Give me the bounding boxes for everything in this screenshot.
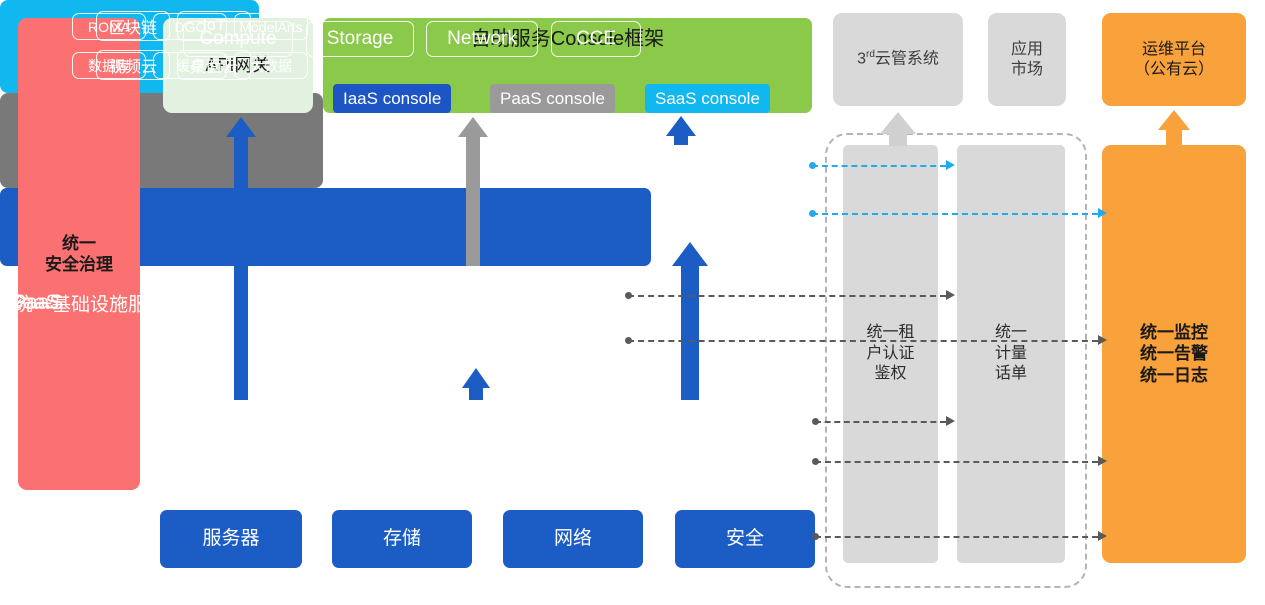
security-governance-line1: 统一 [45,233,113,254]
security-governance-line2: 安全治理 [45,254,113,275]
hardware-storage-box[interactable]: 存储 [332,510,472,568]
ops-platform-label: 运维平台 （公有云） [1134,40,1214,80]
app-market-line2: 市场 [1011,60,1043,80]
paas-service-roma[interactable]: ROMA [72,13,146,40]
tenant-auth-line3: 鉴权 [866,364,914,385]
connector-arrowhead-paas-auth [946,290,955,300]
third-party-cloud-mgmt-box[interactable]: 3rd云管系统 [833,13,963,106]
unified-tenant-auth-label: 统一租 户认证 鉴权 [866,323,914,385]
unified-metering-label: 统一 计量 话单 [995,323,1027,385]
third-party-cloud-mgmt-label: 3rd云管系统 [857,49,939,69]
iaas-console-button[interactable]: IaaS console [333,84,451,113]
metering-line2: 计量 [995,344,1027,365]
connector-saas-to-ops [812,213,1098,215]
ops-monitoring-line1: 统一监控 [1140,322,1208,343]
arrow-saas-to-console [666,116,696,145]
infrastructure-layer-label: 统一基础设施服务 [14,289,166,316]
arrow-infra-to-paas [462,368,490,400]
connector-paas-to-ops [628,340,1098,342]
app-market-box[interactable]: 应用 市场 [988,13,1066,106]
connector-arrowhead-saas-auth [946,160,955,170]
metering-line3: 话单 [995,364,1027,385]
ops-monitoring-column[interactable]: 统一监控 统一告警 统一日志 [1102,145,1246,563]
connector-arrowhead-infra-ops [1098,456,1107,466]
app-market-label: 应用 市场 [1011,40,1043,80]
ops-platform-line1: 运维平台 [1134,40,1214,60]
infra-service-network[interactable]: Network [426,21,538,57]
security-governance-label: 统一 安全治理 [45,233,113,276]
connector-infra-to-ops [815,461,1098,463]
ops-platform-line2: （公有云） [1134,60,1214,80]
connector-arrowhead-hardware-ops [1098,531,1107,541]
saas-console-button[interactable]: SaaS console [645,84,770,113]
unified-tenant-auth-column[interactable]: 统一租 户认证 鉴权 [843,145,938,563]
unified-metering-column[interactable]: 统一 计量 话单 [957,145,1065,563]
tenant-auth-line2: 户认证 [866,344,914,365]
connector-arrowhead-infra-auth [946,416,955,426]
arrow-to-ops-platform [1158,110,1190,146]
hardware-network-box[interactable]: 网络 [503,510,643,568]
infra-service-compute[interactable]: Compute [183,21,293,57]
infra-service-storage[interactable]: Storage [306,21,414,57]
arrow-infra-to-saas [672,242,708,400]
connector-infra-to-tenant-auth [815,421,946,423]
security-governance-column[interactable]: 统一 安全治理 [18,18,140,490]
connector-arrowhead-saas-ops [1098,208,1107,218]
third-party-superscript: rd [866,49,875,60]
app-market-line1: 应用 [1011,40,1043,60]
hardware-server-box[interactable]: 服务器 [160,510,302,568]
third-party-suffix: 云管系统 [875,51,939,68]
connector-arrowhead-paas-ops [1098,335,1107,345]
ops-platform-box[interactable]: 运维平台 （公有云） [1102,13,1246,106]
architecture-diagram: 统一 安全治理 API网关 自助服务Console框架 IaaS console… [0,0,1265,605]
connector-paas-to-tenant-auth [628,295,946,297]
paas-service-database[interactable]: 数据库 [72,52,146,79]
hardware-security-box[interactable]: 安全 [675,510,815,568]
infra-service-cce[interactable]: CCE [551,21,641,57]
ops-monitoring-line2: 统一告警 [1140,343,1208,364]
ops-monitoring-line3: 统一日志 [1140,365,1208,386]
connector-saas-to-tenant-auth [812,165,946,167]
connector-hardware-to-ops [815,536,1098,538]
ops-monitoring-label: 统一监控 统一告警 统一日志 [1140,322,1208,386]
paas-console-button[interactable]: PaaS console [490,84,615,113]
third-party-prefix: 3 [857,51,866,68]
